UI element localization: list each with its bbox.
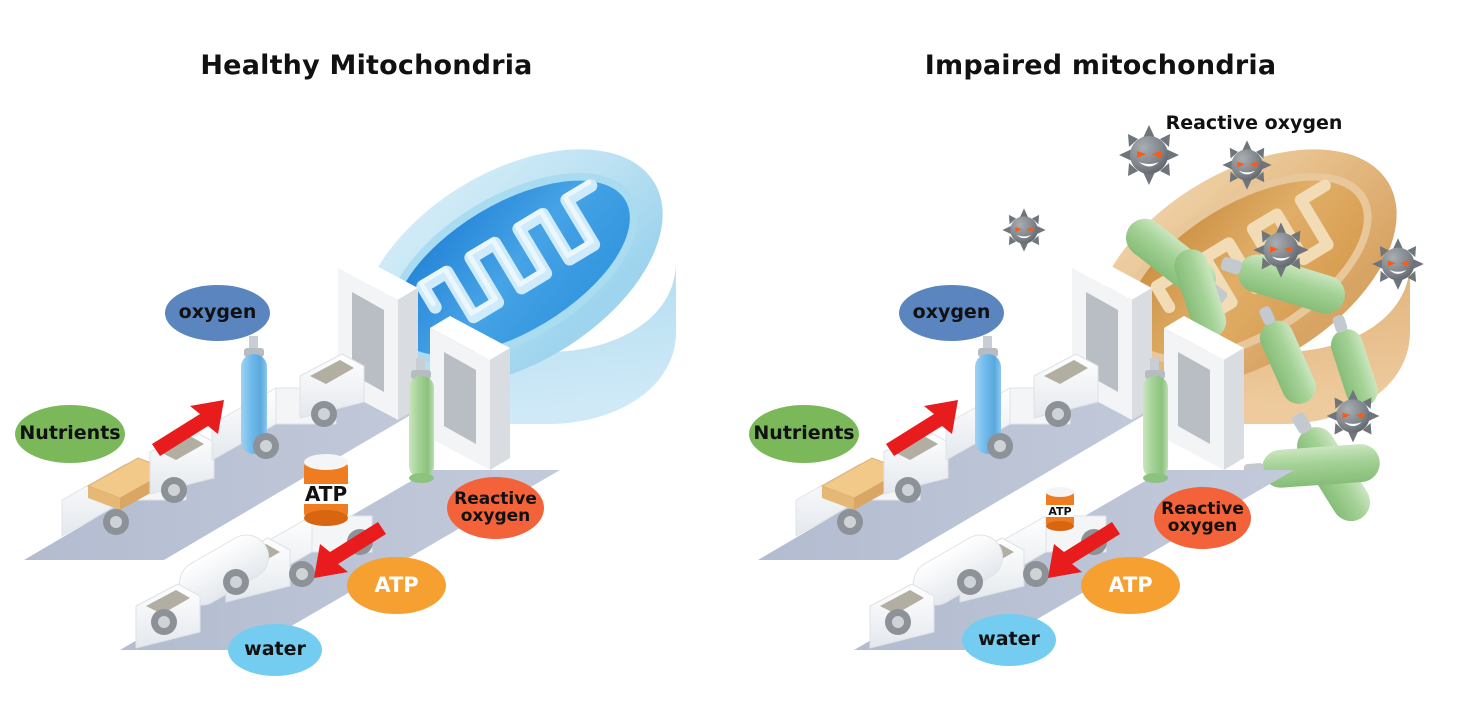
label-reactive-oxygen-top-impaired: Reactive oxygen <box>1124 110 1384 138</box>
panel-impaired: Impaired mitochondria <box>734 0 1467 724</box>
impaired-scene: ATP <box>734 0 1467 724</box>
label-atp-impaired: ATP <box>1081 557 1180 614</box>
label-water-healthy: water <box>228 624 322 676</box>
label-oxygen-impaired: oxygen <box>899 285 1004 341</box>
atp-barrel-text: ATP <box>305 482 347 506</box>
label-atp-healthy: ATP <box>347 557 446 614</box>
gas-cylinder-green-gate <box>1143 358 1168 483</box>
gas-cylinder-green-gate <box>409 358 434 483</box>
label-nutrients-healthy: Nutrients <box>15 405 125 463</box>
atp-barrel-text: ATP <box>1048 505 1071 518</box>
label-nutrients-impaired: Nutrients <box>749 405 859 463</box>
label-reactive-oxygen-impaired: Reactive oxygen <box>1154 487 1251 549</box>
panel-healthy: Healthy Mitochondria <box>0 0 733 724</box>
healthy-scene: ATP <box>0 0 733 724</box>
label-water-impaired: water <box>962 614 1056 666</box>
label-oxygen-healthy: oxygen <box>165 285 270 341</box>
atp-barrel: ATP <box>304 454 348 526</box>
label-reactive-oxygen-healthy: Reactive oxygen <box>447 477 544 539</box>
atp-barrel: ATP <box>1046 487 1074 531</box>
ros-icon <box>1002 208 1045 251</box>
ros-icon <box>1327 390 1380 443</box>
